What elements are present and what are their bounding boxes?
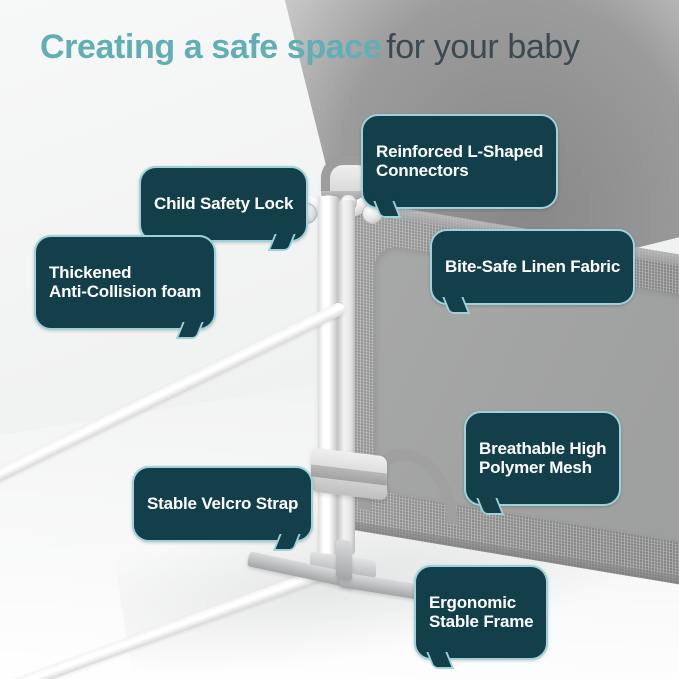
callout-label: Reinforced L-Shaped Connectors <box>376 142 543 180</box>
vertical-support-post-front <box>318 196 339 558</box>
callout-label: Thickened Anti-Collision foam <box>49 263 201 301</box>
infographic-canvas: Creating a safe spacefor your baby <box>0 0 679 679</box>
diagonal-support-pole-lower <box>0 560 344 679</box>
velcro-strap-collar <box>311 447 387 500</box>
callout-thickened-anti-collision-foam[interactable]: Thickened Anti-Collision foam <box>34 235 216 330</box>
callout-child-safety-lock[interactable]: Child Safety Lock <box>139 166 308 242</box>
callout-reinforced-l-shaped-connectors[interactable]: Reinforced L-Shaped Connectors <box>361 114 558 209</box>
callout-stable-velcro-strap[interactable]: Stable Velcro Strap <box>132 466 313 542</box>
callout-label: Breathable High Polymer Mesh <box>479 439 606 477</box>
callout-label: Ergonomic Stable Frame <box>429 593 533 631</box>
page-title-light: for your baby <box>386 28 579 66</box>
product-illustration <box>0 0 679 679</box>
callout-breathable-high-polymer-mesh[interactable]: Breathable High Polymer Mesh <box>464 411 621 506</box>
velcro-strap-band <box>311 464 387 485</box>
base-foot-bar-back <box>336 539 352 582</box>
vertical-support-post-back <box>338 200 355 555</box>
callout-label: Bite-Safe Linen Fabric <box>445 257 620 276</box>
page-title-bold: Creating a safe space <box>40 28 381 66</box>
callout-ergonomic-stable-frame[interactable]: Ergonomic Stable Frame <box>414 565 548 660</box>
callout-label: Child Safety Lock <box>154 194 293 213</box>
callout-label: Stable Velcro Strap <box>147 494 298 513</box>
page-title: Creating a safe spacefor your baby <box>40 28 579 67</box>
callout-bite-safe-linen-fabric[interactable]: Bite-Safe Linen Fabric <box>430 229 635 305</box>
